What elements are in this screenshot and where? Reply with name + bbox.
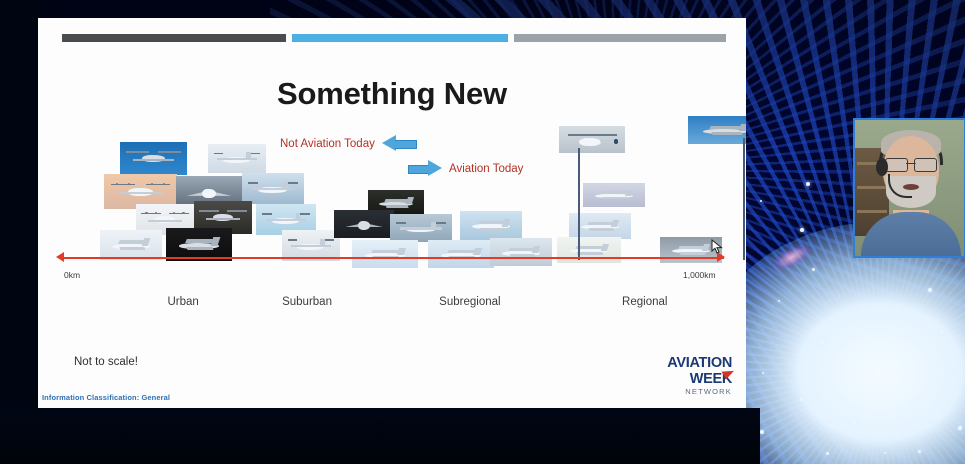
page-title: Something New <box>38 76 746 112</box>
photo-evtol-tiltwing-white <box>208 144 266 173</box>
photo-hybrid-commuter <box>557 237 621 263</box>
photo-helicopter-white <box>559 126 625 153</box>
headset-earcup-icon <box>876 158 888 176</box>
aviation-week-logo: AVIATION WEEK NETWORK <box>654 356 732 396</box>
legend-label-aviation-today: Aviation Today <box>449 163 523 175</box>
photo-regional-prop-sky <box>460 211 522 240</box>
category-labels: UrbanSuburbanSubregionalRegional <box>38 296 746 314</box>
axis-tick-end: 1,000km <box>683 270 716 280</box>
bar-segment-grey <box>514 34 726 42</box>
photo-bizjet-red <box>583 183 645 207</box>
category-label-urban: Urban <box>167 296 198 308</box>
photo-evtol-yellow-wing <box>100 230 162 260</box>
classification-label: Information Classification: General <box>42 393 170 402</box>
photo-evtol-quad-blue <box>120 142 187 175</box>
slide-note: Not to scale! <box>74 356 138 368</box>
photo-twinprop-grey <box>490 238 552 266</box>
logo-line-aviation: AVIATION <box>654 356 732 371</box>
photo-eplane-white <box>352 240 418 268</box>
mouse-cursor <box>711 239 724 254</box>
photo-atr-turboprop-blue <box>688 116 746 144</box>
category-label-regional: Regional <box>622 296 667 308</box>
photo-evtol-tilt-sky <box>242 173 304 204</box>
axis-arrow-left-icon <box>56 252 64 262</box>
bar-segment-blue <box>292 34 508 42</box>
bar-segment-dark <box>62 34 286 42</box>
separator-right <box>743 138 745 260</box>
logo-line-week: WEEK <box>654 372 732 387</box>
slide-header-bars <box>62 34 726 42</box>
presenter-video-tile[interactable] <box>853 118 965 258</box>
category-label-suburban: Suburban <box>282 296 332 308</box>
range-axis-line <box>62 257 724 259</box>
logo-line-network: NETWORK <box>654 388 732 396</box>
legend-label-not-aviation-today: Not Aviation Today <box>280 138 375 150</box>
right-arrow-icon <box>408 160 442 177</box>
legend-item-aviation-today: Aviation Today <box>408 160 523 177</box>
left-arrow-icon <box>382 135 416 152</box>
legend-item-not-aviation-today: Not Aviation Today <box>280 135 416 152</box>
photo-evtol-blended-wing <box>334 210 394 238</box>
background-bottom-band <box>0 408 760 464</box>
separator-regional <box>578 148 580 260</box>
background-left-edge <box>0 0 40 464</box>
category-label-subregional: Subregional <box>439 296 500 308</box>
photo-evtol-dusk-tilt <box>390 214 452 242</box>
photo-eplane-blue-stripe <box>428 240 494 268</box>
presentation-slide[interactable]: Something New Not Aviation Today Aviatio… <box>38 18 746 408</box>
glasses-icon <box>885 158 937 170</box>
axis-tick-start: 0km <box>64 270 80 280</box>
